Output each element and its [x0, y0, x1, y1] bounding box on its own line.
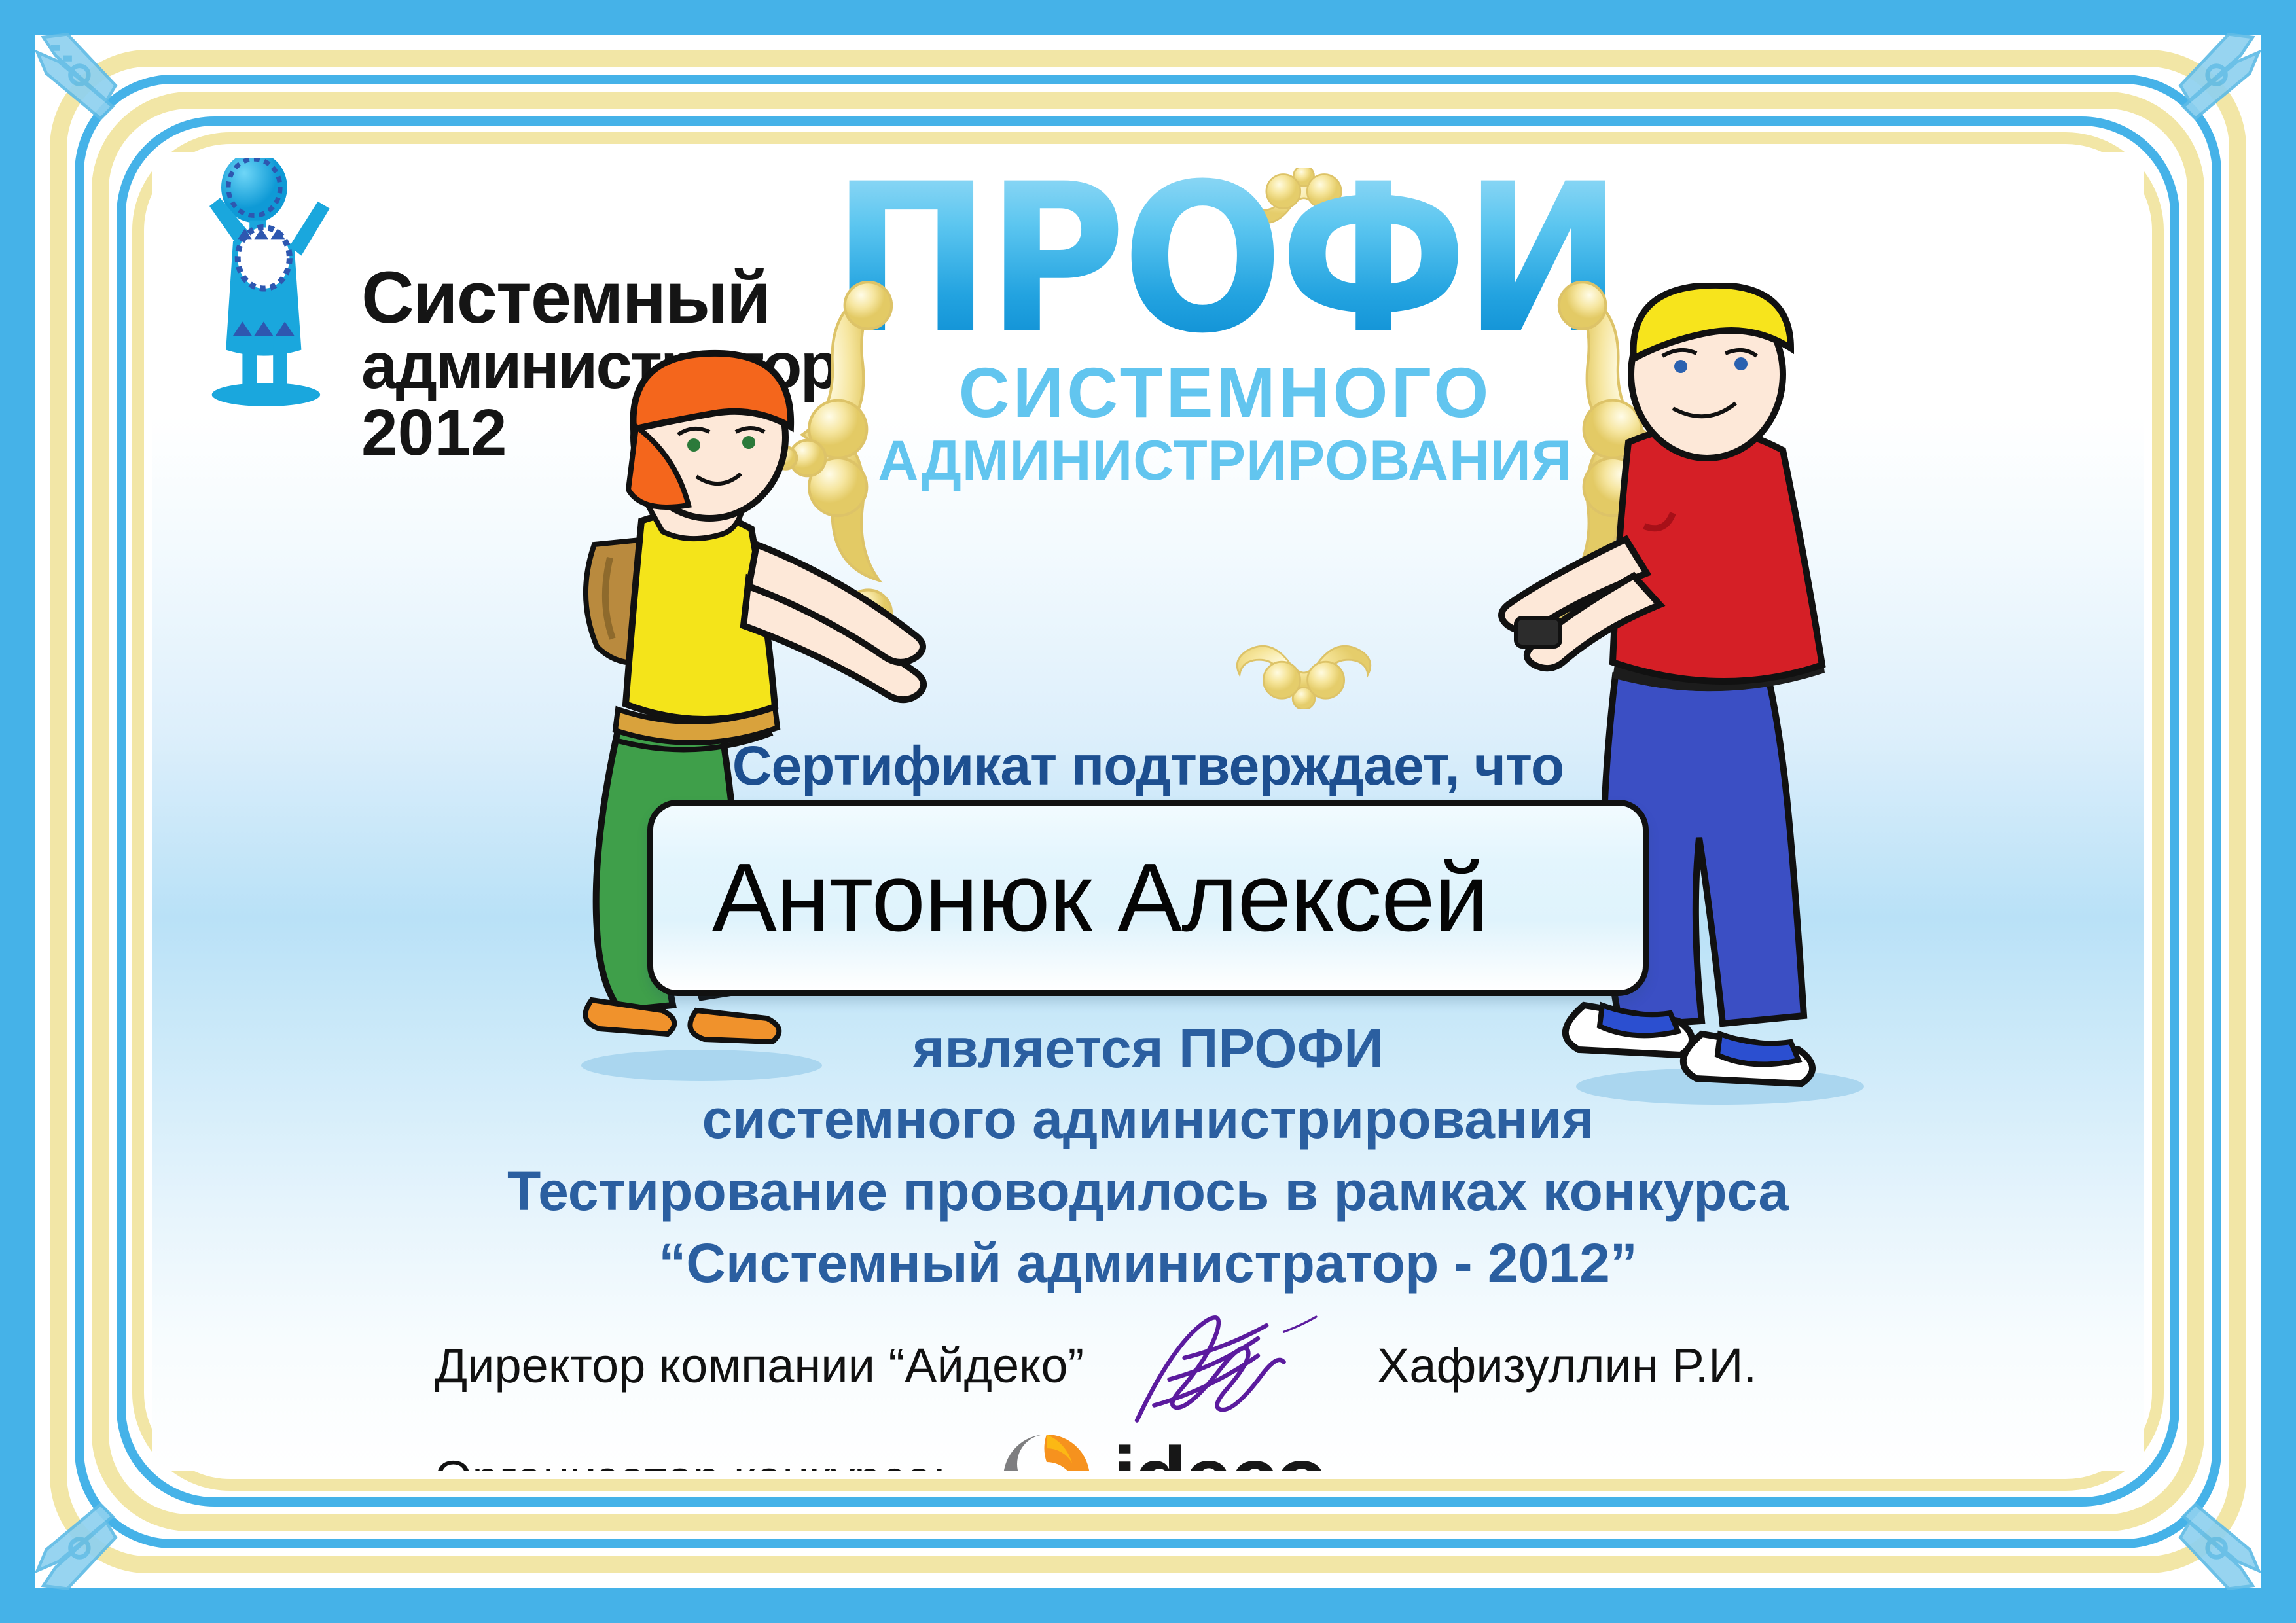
crimping-tool-icon [22, 22, 173, 173]
certificate-body: Системный администратор 2012 ПРОФИ СИСТЕ… [152, 152, 2144, 1471]
signatory-name: Хафизуллин Р.И. [1377, 1338, 1757, 1393]
body-line-1: является ПРОФИ [428, 1017, 1868, 1080]
ideco-wordmark: ideco [1113, 1428, 1325, 1471]
signature-title: Директор компании “Айдеко” [435, 1338, 1084, 1393]
handwritten-signature-icon [1122, 1301, 1338, 1432]
golden-flourish-icon [1212, 618, 1395, 709]
organizer-label: Организатор конкурса: [435, 1450, 946, 1471]
certificate-page: Системный администратор 2012 ПРОФИ СИСТЕ… [0, 0, 2296, 1623]
body-line-4: “Системный администратор - 2012” [428, 1232, 1868, 1295]
ideco-logo: ideco [997, 1428, 1325, 1471]
recipient-nameplate: Антонюк Алексей [647, 800, 1649, 996]
crimping-tool-icon [2123, 22, 2274, 173]
logo-line-1: Системный [361, 263, 806, 332]
body-line-3: Тестирование проводилось в рамках конкур… [428, 1160, 1868, 1223]
body-line-2: системного администрирования [428, 1088, 1868, 1151]
ideco-circle-icon [997, 1429, 1096, 1472]
signature-row: Директор компании “Айдеко” Хафизуллин Р.… [278, 1323, 1888, 1421]
organizer-row: Организатор конкурса: ideco [278, 1435, 1456, 1471]
chukcha-mascot-icon [198, 158, 374, 466]
confirm-line: Сертификат подтверждает, что [559, 734, 1737, 798]
crimping-tool-icon [2123, 1450, 2274, 1601]
recipient-name: Антонюк Алексей [712, 842, 1488, 954]
crimping-tool-icon [22, 1450, 173, 1601]
